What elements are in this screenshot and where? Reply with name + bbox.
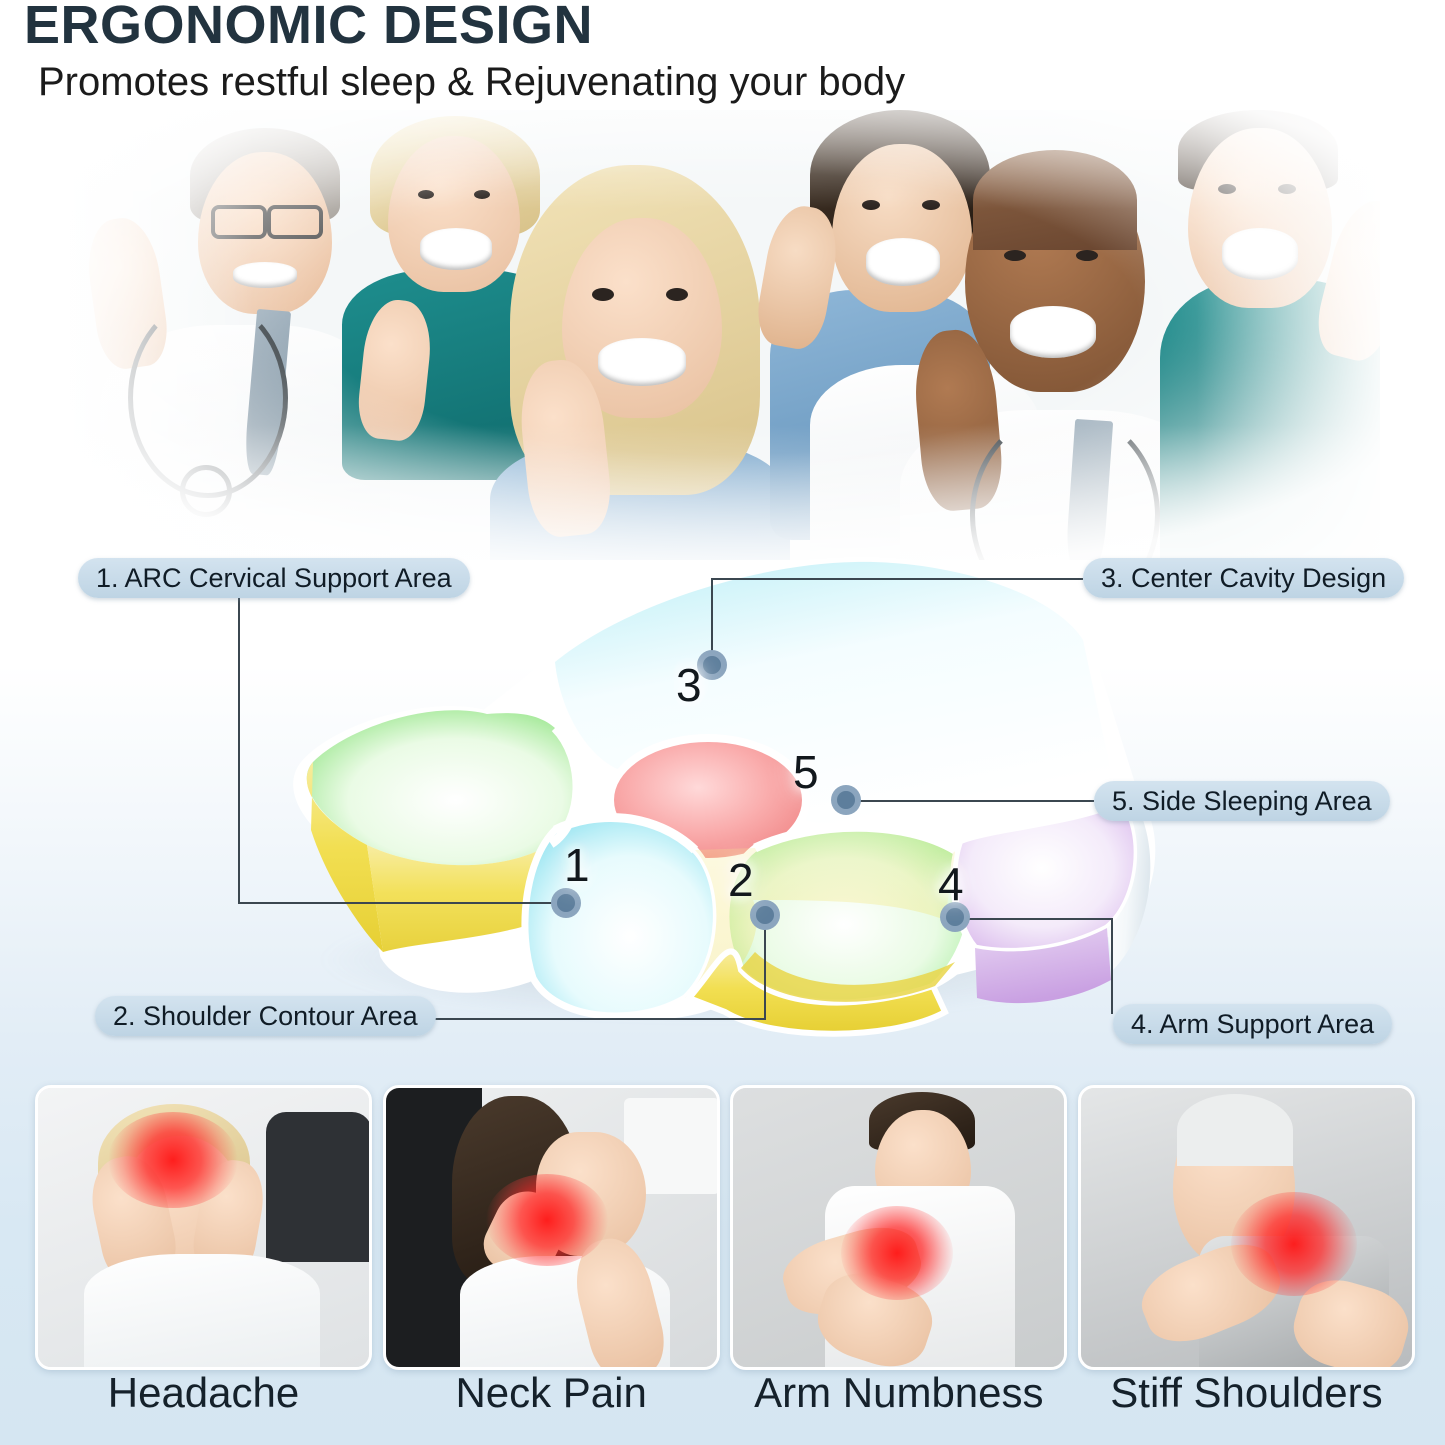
- infographic-page: ERGONOMIC DESIGN Promotes restful sleep …: [0, 0, 1445, 1445]
- leader-line-5: [846, 800, 1094, 802]
- callout-3-center-cavity-design[interactable]: 3. Center Cavity Design: [1083, 558, 1404, 598]
- marker-number-1: 1: [564, 838, 590, 892]
- marker-dot-5[interactable]: [831, 785, 861, 815]
- caption-arm-numbness: Arm Numbness: [730, 1372, 1067, 1432]
- leader-line-1: [238, 902, 570, 904]
- leader-line-1b: [238, 598, 240, 904]
- pain-indicator: [108, 1112, 238, 1208]
- marker-dot-1[interactable]: [551, 888, 581, 918]
- headache-photo: [38, 1088, 369, 1367]
- callout-1-label: 1. ARC Cervical Support Area: [96, 563, 452, 594]
- doctors-hero-photo: [70, 110, 1380, 560]
- marker-number-5: 5: [793, 745, 819, 799]
- caption-stiff-shoulders: Stiff Shoulders: [1078, 1372, 1415, 1432]
- symptom-card-arm-numbness[interactable]: [730, 1085, 1067, 1370]
- leader-line-3b: [711, 578, 1083, 580]
- symptom-card-row: [35, 1085, 1415, 1370]
- pain-indicator: [486, 1174, 608, 1266]
- marker-dot-2[interactable]: [750, 900, 780, 930]
- callout-4-label: 4. Arm Support Area: [1131, 1009, 1374, 1040]
- pain-indicator: [841, 1206, 953, 1300]
- callout-3-label: 3. Center Cavity Design: [1101, 563, 1386, 594]
- caption-neck-pain: Neck Pain: [383, 1372, 720, 1432]
- caption-headache: Headache: [35, 1372, 372, 1432]
- page-title: ERGONOMIC DESIGN: [24, 0, 593, 52]
- marker-number-4: 4: [938, 857, 964, 911]
- callout-5-side-sleeping-area[interactable]: 5. Side Sleeping Area: [1094, 781, 1390, 821]
- marker-number-3: 3: [676, 658, 702, 712]
- neck-pain-photo: [386, 1088, 717, 1367]
- stiff-shoulders-photo: [1081, 1088, 1412, 1367]
- symptom-caption-row: Headache Neck Pain Arm Numbness Stiff Sh…: [35, 1372, 1415, 1432]
- arm-numbness-photo: [733, 1088, 1064, 1367]
- page-subtitle: Promotes restful sleep & Rejuvenating yo…: [38, 62, 905, 102]
- marker-number-2: 2: [728, 853, 754, 907]
- leader-line-4b: [1111, 918, 1113, 1014]
- leader-line-2: [764, 916, 766, 1020]
- pain-indicator: [1231, 1192, 1357, 1296]
- callout-2-label: 2. Shoulder Contour Area: [113, 1001, 418, 1032]
- leader-line-4: [955, 918, 1113, 920]
- callout-5-label: 5. Side Sleeping Area: [1112, 786, 1372, 817]
- symptom-card-neck-pain[interactable]: [383, 1085, 720, 1370]
- callout-1-arc-cervical-support-area[interactable]: 1. ARC Cervical Support Area: [78, 558, 470, 598]
- callout-4-arm-support-area[interactable]: 4. Arm Support Area: [1113, 1004, 1392, 1044]
- symptom-card-stiff-shoulders[interactable]: [1078, 1085, 1415, 1370]
- symptom-card-headache[interactable]: [35, 1085, 372, 1370]
- leader-line-2b: [430, 1018, 766, 1020]
- callout-2-shoulder-contour-area[interactable]: 2. Shoulder Contour Area: [95, 996, 436, 1036]
